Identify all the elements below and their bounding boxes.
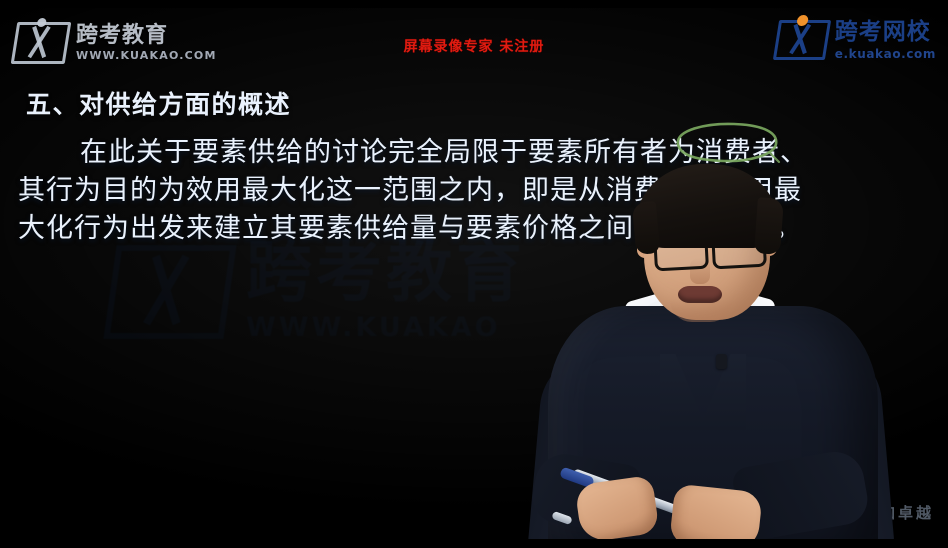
video-player-frame: 跨考教育 WWW.KUAKAO [0,0,948,548]
letterbox-bar-bottom [0,539,948,548]
presenter-hair-side-left [632,201,660,255]
recorder-watermark: 屏幕录像专家 未注册 [0,36,948,56]
presenter-hand-right [669,484,763,539]
presenter-hand-left [574,475,659,539]
video-surface[interactable]: 跨考教育 WWW.KUAKAO [0,8,948,539]
letterbox-bar-top [0,0,948,8]
presenter-hair-side-right [754,197,784,255]
lapel-microphone-icon [716,354,727,369]
slide-title: 五、对供给方面的概述 [26,85,291,121]
presenter-figure [520,158,900,539]
